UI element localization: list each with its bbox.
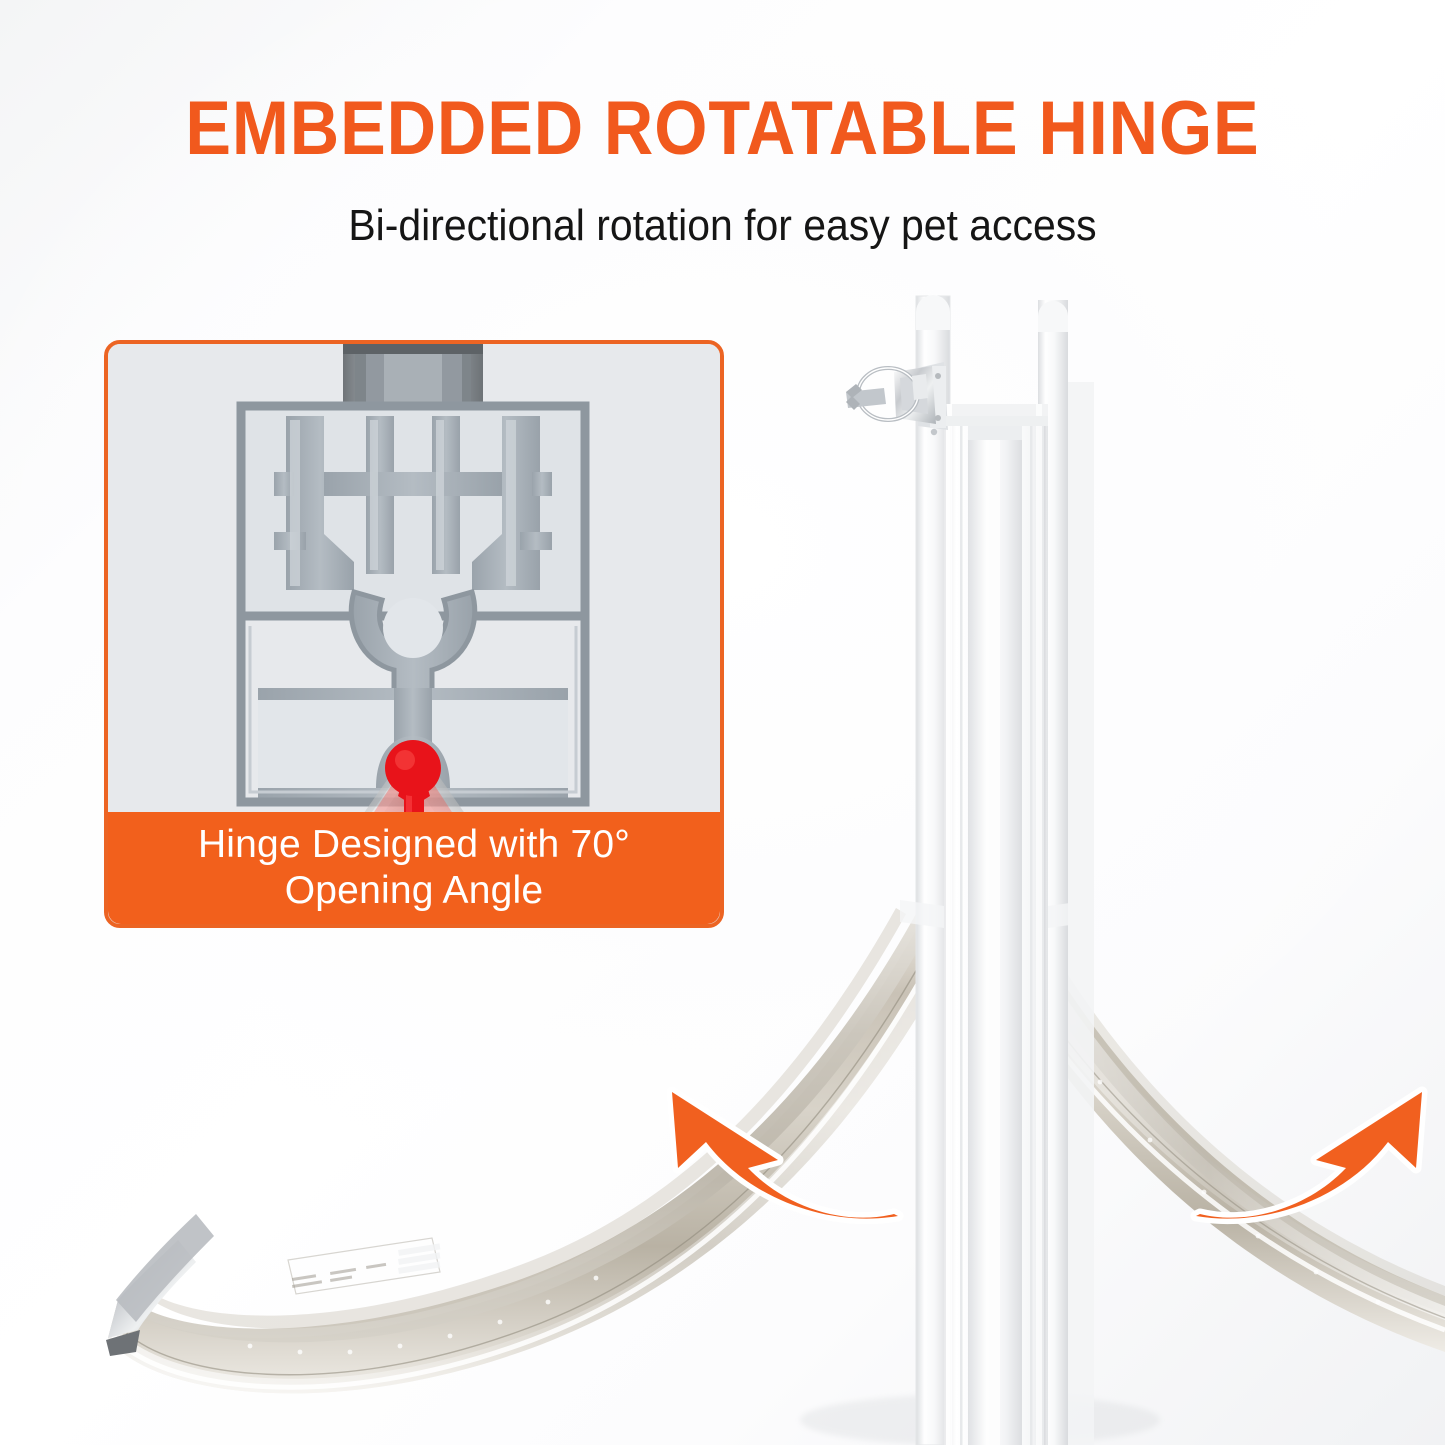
hinge-detail-frame: Hinge Designed with 70° Opening Angle xyxy=(104,340,724,928)
latch-hardware xyxy=(846,362,948,435)
rotate-left-arrow xyxy=(636,1056,966,1266)
page-subtitle: Bi-directional rotation for easy pet acc… xyxy=(51,198,1395,254)
product-feature-banner: EMBEDDED ROTATABLE HINGE Bi-directional … xyxy=(0,0,1445,1445)
rotate-right-arrow xyxy=(1138,1056,1445,1266)
center-post xyxy=(916,295,1094,1445)
pivot-ball xyxy=(385,740,441,796)
hinge-detail-card: Hinge Designed with 70° Opening Angle xyxy=(104,340,724,928)
hinge-caption: Hinge Designed with 70° Opening Angle xyxy=(108,812,720,924)
page-title: EMBEDDED ROTATABLE HINGE xyxy=(72,86,1373,172)
